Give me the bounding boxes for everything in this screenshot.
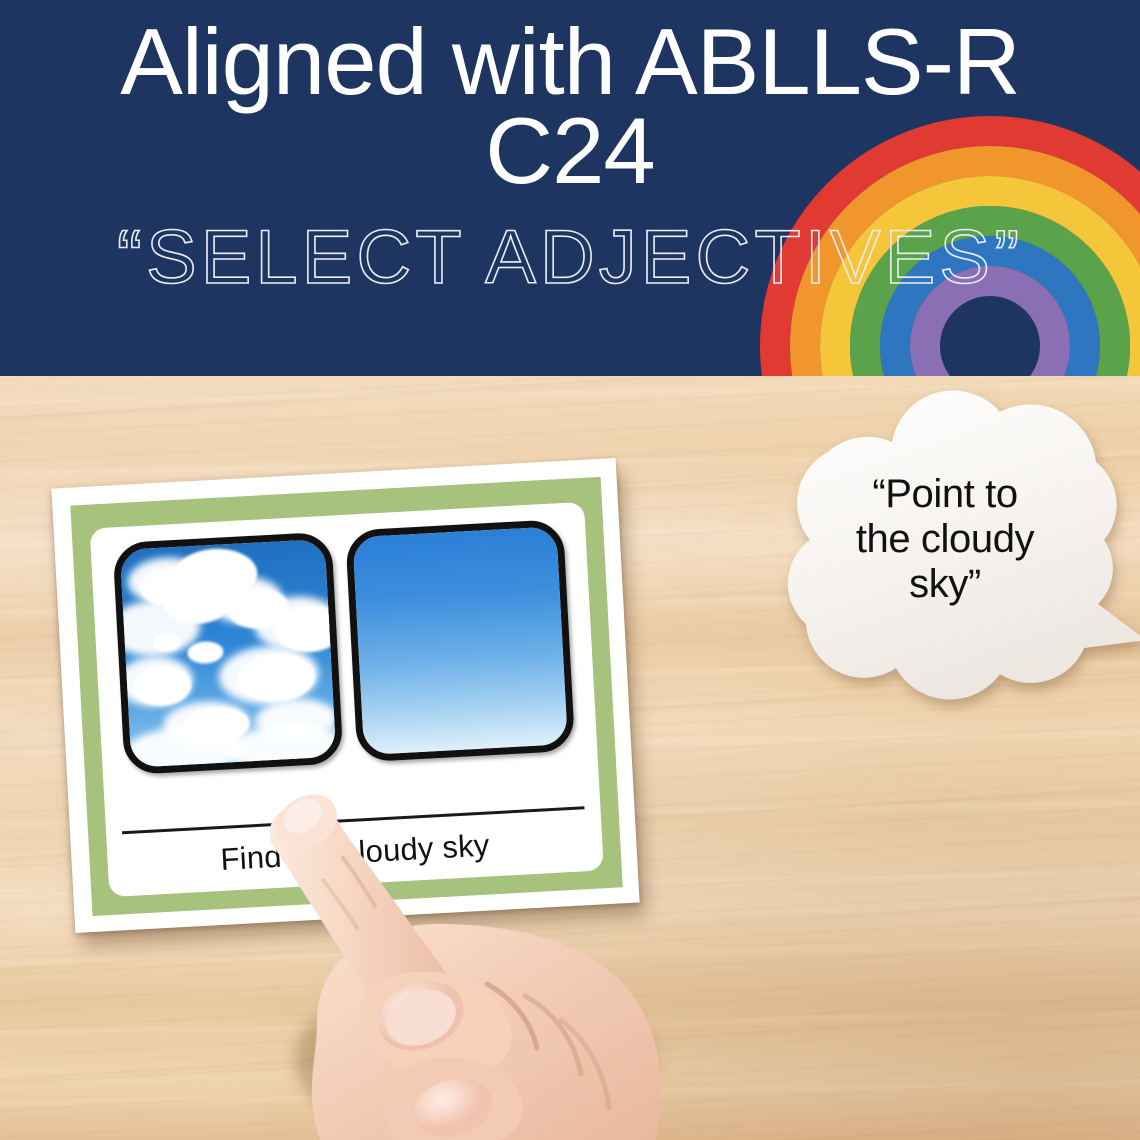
speech-line-3: sky” xyxy=(810,562,1080,607)
speech-bubble: “Point to the cloudy sky” xyxy=(752,382,1140,782)
banner-text-block: Aligned with ABLLS-R C24 “SELECT ADJECTI… xyxy=(0,0,1140,376)
banner-title-line1: Aligned with ABLLS-R xyxy=(120,14,1020,110)
header-banner: Aligned with ABLLS-R C24 “SELECT ADJECTI… xyxy=(0,0,1140,376)
clear-sky-image xyxy=(352,526,568,755)
banner-subtitle: “SELECT ADJECTIVES” xyxy=(117,214,1024,301)
pointing-hand xyxy=(225,730,695,1140)
speech-line-2: the cloudy xyxy=(810,517,1080,562)
banner-title-line2: C24 xyxy=(485,104,654,198)
speech-line-1: “Point to xyxy=(810,472,1080,517)
speech-bubble-text: “Point to the cloudy sky” xyxy=(810,472,1080,606)
choice-clear-sky[interactable] xyxy=(345,519,576,762)
screenshot-root: Aligned with ABLLS-R C24 “SELECT ADJECTI… xyxy=(0,0,1140,1140)
